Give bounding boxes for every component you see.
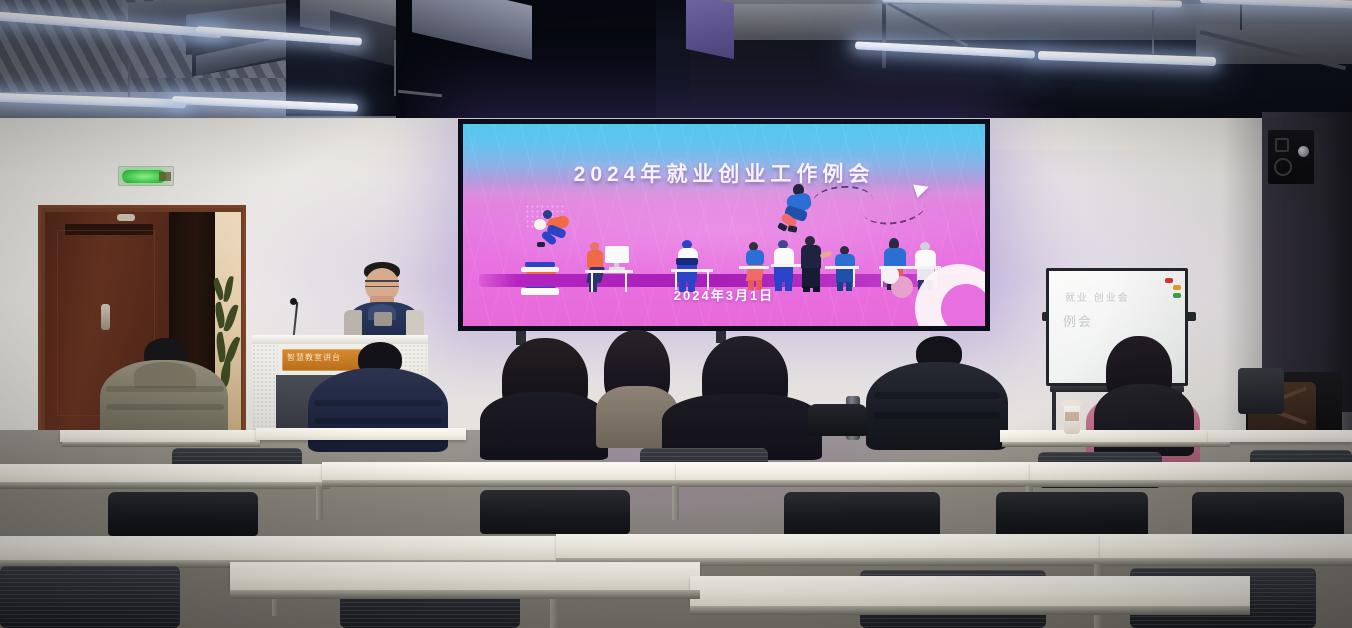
wall-speaker	[1268, 130, 1314, 184]
attendee-coat-seam	[106, 386, 224, 392]
chair-c-1[interactable]	[108, 492, 258, 540]
desk-leg	[316, 486, 323, 520]
desk-row-b-apron-3	[676, 480, 1036, 487]
desk-row-b-4	[1030, 462, 1352, 480]
wall-speaker-led	[1298, 146, 1309, 157]
wall-speaker-woofer	[1274, 158, 1292, 176]
desk-row-c-3	[1100, 534, 1352, 558]
chair-backrest	[784, 492, 940, 538]
slide-figure-jumping	[533, 212, 577, 254]
desk-row-d-2	[690, 576, 1250, 606]
slide-title: 2024年就业创业工作例会	[463, 158, 985, 188]
presenter-collar	[374, 312, 392, 326]
desk-row-b-apron-2	[322, 480, 682, 487]
desk-row-a-apron	[62, 442, 260, 447]
coffee-cup-sleeve	[1065, 412, 1079, 421]
attendee-jacket-seam	[314, 418, 442, 424]
led-display-content: 2024年就业创业工作例会	[463, 124, 985, 326]
attendee-coat-seam	[106, 404, 224, 410]
hanging-rod-1	[128, 62, 130, 102]
desk-row-b-apron-4	[1030, 480, 1352, 487]
desk-row-b-3	[676, 462, 1036, 480]
attendee-long-hair-1	[480, 338, 608, 458]
desk-row-c-1	[0, 536, 560, 560]
plant-leaf	[223, 303, 238, 332]
chair-c-2[interactable]	[480, 490, 630, 538]
whiteboard-text-line-2: 例会	[1063, 311, 1093, 330]
whiteboard-marker-green[interactable]	[1173, 293, 1181, 298]
coffee-cup	[1062, 400, 1082, 434]
desk-row-c-apron-3	[1100, 558, 1352, 566]
led-display[interactable]: 2024年就业创业工作例会	[458, 119, 990, 331]
slide-date: 2024年3月1日	[463, 285, 985, 304]
desk-row-d-apron-2	[690, 606, 1250, 615]
chair-backrest	[996, 492, 1148, 538]
attendee-puffer-seam	[874, 412, 1000, 419]
desk-row-a-1	[60, 430, 260, 442]
chair-backrest	[108, 492, 258, 536]
whiteboard-marker-orange[interactable]	[1173, 285, 1181, 290]
backpack	[808, 404, 868, 436]
desk-row-d-1	[230, 562, 700, 590]
classroom-scene: 2024年就业创业工作例会	[0, 0, 1352, 628]
hanging-rod-4	[1152, 10, 1154, 54]
attendee-dark-puffer	[866, 336, 1008, 448]
hanging-rod-2	[394, 40, 396, 96]
door-closer	[117, 214, 135, 221]
lectern-side-left	[252, 344, 278, 435]
desk-leg	[672, 486, 679, 520]
ceiling-panel-purple	[686, 0, 734, 59]
whiteboard-marker-red[interactable]	[1165, 278, 1173, 283]
ceiling	[0, 0, 1352, 132]
ceiling-slab-far-right	[1196, 24, 1352, 64]
attendee-puffer-seam	[874, 392, 1000, 399]
desk-row-d-apron-1	[230, 590, 700, 599]
attendee-puffer-jacket	[866, 362, 1008, 450]
microphone-icon	[290, 298, 297, 305]
chair-d-1[interactable]	[0, 566, 180, 628]
attendee-jacket-seam	[314, 400, 442, 406]
attendee-hood	[134, 362, 196, 388]
desk-row-b-apron-1	[0, 482, 330, 489]
attendee-beige-coat	[96, 338, 232, 438]
presenter-glasses-icon	[365, 280, 399, 287]
ceiling-support-1	[882, 4, 886, 68]
plant-leaf	[223, 276, 234, 303]
chair-backrest	[1192, 492, 1344, 538]
chair-backrest	[0, 566, 180, 628]
desk-row-a-3	[1000, 430, 1230, 442]
attendee-top	[480, 392, 608, 460]
exit-sign-arrow	[159, 172, 171, 181]
attendee-long-hair-3	[662, 336, 822, 460]
chair-backrest	[480, 490, 630, 534]
desk-row-c-2	[556, 534, 1116, 558]
wall-speaker-tweeter	[1275, 138, 1289, 152]
desk-row-b-2	[322, 462, 682, 480]
desk-row-a-apron	[1002, 442, 1230, 447]
door-handle[interactable]	[101, 304, 110, 330]
slide-circle-4	[881, 266, 899, 284]
corner-equipment	[1238, 368, 1284, 414]
desk-row-a-2	[256, 428, 466, 440]
whiteboard-text-line-1: 就业 创业会	[1065, 289, 1130, 304]
desk-row-a-4	[1208, 430, 1352, 442]
exit-sign-icon	[118, 166, 174, 186]
desk-row-b-1	[0, 464, 330, 482]
